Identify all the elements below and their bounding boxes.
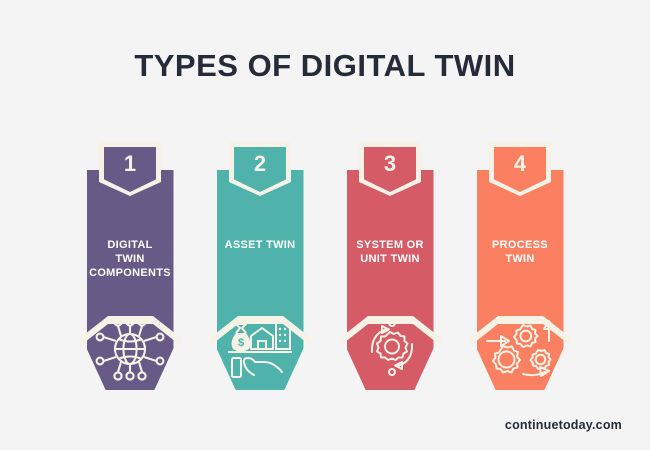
page-title: TYPES OF DIGITAL TWIN bbox=[0, 48, 650, 84]
column-label-2: ASSET TWIN bbox=[203, 238, 318, 252]
type-columns: 1 DIGITAL TWIN COMPONENTS bbox=[0, 142, 650, 392]
svg-text:$: $ bbox=[238, 337, 244, 349]
gears-process-icon bbox=[478, 314, 562, 384]
badge-number-1: 1 bbox=[124, 153, 136, 175]
number-badge-4: 4 bbox=[489, 142, 551, 196]
type-column-1[interactable]: 1 DIGITAL TWIN COMPONENTS bbox=[87, 142, 174, 390]
globe-network-icon bbox=[88, 314, 172, 384]
number-badge-2: 2 bbox=[229, 142, 291, 196]
type-column-2[interactable]: 2 ASSET TWIN $ bbox=[217, 142, 304, 390]
infographic-canvas: TYPES OF DIGITAL TWIN 1 DIGITAL TWIN COM… bbox=[0, 0, 650, 450]
column-label-4: PROCESS TWIN bbox=[463, 238, 578, 266]
badge-number-4: 4 bbox=[514, 153, 526, 175]
hand-assets-icon: $ bbox=[218, 314, 302, 384]
footer-watermark: continuetoday.com bbox=[505, 418, 622, 432]
number-badge-1: 1 bbox=[99, 142, 161, 196]
column-label-1: DIGITAL TWIN COMPONENTS bbox=[73, 238, 188, 280]
type-column-4[interactable]: 4 PROCESS TWIN bbox=[477, 142, 564, 390]
badge-number-3: 3 bbox=[384, 153, 396, 175]
gear-cycle-icon bbox=[348, 314, 432, 384]
column-label-3: SYSTEM OR UNIT TWIN bbox=[333, 238, 448, 266]
number-badge-3: 3 bbox=[359, 142, 421, 196]
badge-number-2: 2 bbox=[254, 153, 266, 175]
type-column-3[interactable]: 3 SYSTEM OR UNIT TWIN bbox=[347, 142, 434, 390]
